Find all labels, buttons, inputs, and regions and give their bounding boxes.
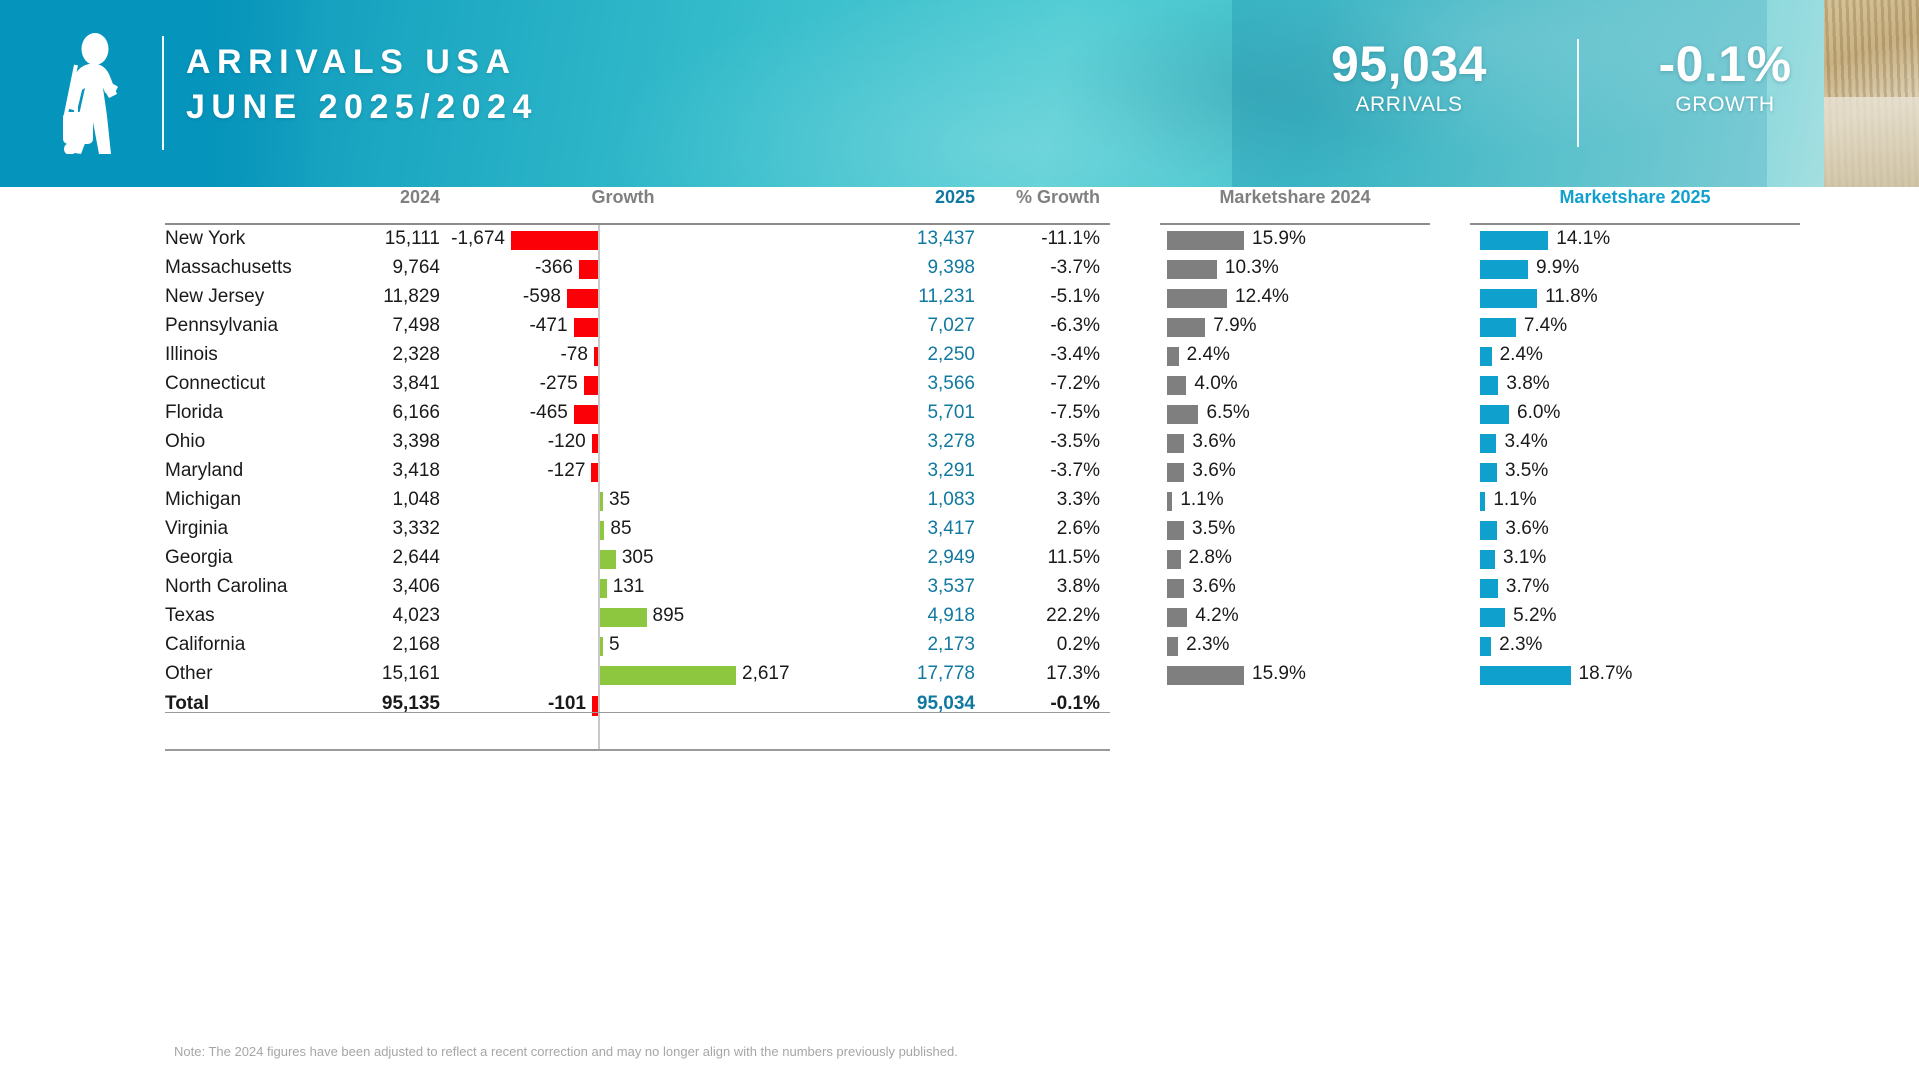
cell-marketshare-2025: 14.1% [1556, 228, 1610, 250]
marketshare-2025-bar [1480, 405, 1509, 424]
kpi-growth-value: -0.1% [1595, 36, 1855, 92]
column-header-2024: 2024 [305, 187, 440, 208]
cell-marketshare-2024: 12.4% [1235, 286, 1289, 308]
cell-state: Illinois [165, 344, 218, 366]
table-row: Michigan1,048351,0833.3%1.1%1.1% [0, 486, 1919, 515]
cell-2024: 4,023 [305, 605, 440, 627]
cell-pct-growth: -3.5% [985, 431, 1100, 453]
growth-bar [591, 463, 598, 482]
marketshare-2025-bar [1480, 637, 1491, 656]
marketshare-2024-bar [1167, 521, 1184, 540]
cell-state: Pennsylvania [165, 315, 278, 337]
cell-growth-label: 35 [609, 489, 699, 511]
marketshare-2024-bar [1167, 231, 1244, 250]
cell-pct-growth: 22.2% [985, 605, 1100, 627]
table-row: Illinois2,328-782,250-3.4%2.4%2.4% [0, 341, 1919, 370]
cell-2024: 6,166 [305, 402, 440, 424]
cell-marketshare-2024: 15.9% [1252, 228, 1306, 250]
cell-2024: 9,764 [305, 257, 440, 279]
column-header-marketshare-2024: Marketshare 2024 [1160, 187, 1430, 208]
cell-pct-growth: -7.2% [985, 373, 1100, 395]
growth-bar [567, 289, 598, 308]
cell-2024: 2,168 [305, 634, 440, 656]
cell-2024: 3,398 [305, 431, 440, 453]
cell-2025: 4,918 [865, 605, 975, 627]
cell-marketshare-2024: 3.6% [1192, 431, 1235, 453]
cell-state: Connecticut [165, 373, 265, 395]
table-row: California2,16852,1730.2%2.3%2.3% [0, 631, 1919, 660]
total-rule-top [165, 712, 1110, 713]
cell-growth-label: -120 [496, 431, 586, 453]
page-title: ARRIVALS USA JUNE 2025/2024 [186, 40, 538, 130]
cell-marketshare-2024: 3.5% [1192, 518, 1235, 540]
marketshare-2025-bar [1480, 434, 1496, 453]
cell-growth-label: 5 [609, 634, 699, 656]
cell-marketshare-2024: 1.1% [1180, 489, 1223, 511]
cell-2025: 17,778 [865, 663, 975, 685]
kpi-arrivals: 95,034 ARRIVALS [1259, 36, 1559, 117]
cell-pct-growth: 11.5% [985, 547, 1100, 569]
cell-pct-growth: -11.1% [985, 228, 1100, 250]
footnote: Note: The 2024 figures have been adjuste… [174, 1044, 958, 1059]
cell-pct-growth: -3.7% [985, 460, 1100, 482]
growth-bar [579, 260, 598, 279]
title-line-1: ARRIVALS USA [186, 40, 538, 85]
cell-2025: 3,566 [865, 373, 975, 395]
marketshare-2025-bar [1480, 492, 1485, 511]
cell-2024: 7,498 [305, 315, 440, 337]
cell-state: Michigan [165, 489, 241, 511]
growth-bar [584, 376, 598, 395]
table-row: Maryland3,418-1273,291-3.7%3.6%3.5% [0, 457, 1919, 486]
table-row: Massachusetts9,764-3669,398-3.7%10.3%9.9… [0, 254, 1919, 283]
cell-growth-label: -275 [488, 373, 578, 395]
kpi-arrivals-label: ARRIVALS [1259, 93, 1559, 117]
cell-2024: 1,048 [305, 489, 440, 511]
marketshare-2024-bar [1167, 434, 1184, 453]
cell-pct-growth: -3.7% [985, 257, 1100, 279]
cell-marketshare-2025: 6.0% [1517, 402, 1560, 424]
cell-marketshare-2025: 3.7% [1506, 576, 1549, 598]
cell-pct-growth: 3.8% [985, 576, 1100, 598]
cell-2024: 3,841 [305, 373, 440, 395]
marketshare-2024-bar [1167, 579, 1184, 598]
marketshare-2024-bar [1167, 666, 1244, 685]
marketshare-2025-bar [1480, 347, 1492, 366]
cell-marketshare-2024: 2.3% [1186, 634, 1229, 656]
cell-2024: 3,406 [305, 576, 440, 598]
growth-bar [600, 637, 603, 656]
cell-state: New Jersey [165, 286, 264, 308]
cell-marketshare-2025: 5.2% [1513, 605, 1556, 627]
cell-marketshare-2025: 18.7% [1579, 663, 1633, 685]
cell-2025: 9,398 [865, 257, 975, 279]
column-header-2025: 2025 [865, 187, 975, 208]
cell-marketshare-2024: 6.5% [1206, 402, 1249, 424]
marketshare-2025-bar [1480, 289, 1537, 308]
cell-state: Florida [165, 402, 223, 424]
cell-marketshare-2025: 3.4% [1504, 431, 1547, 453]
cell-2024: 3,332 [305, 518, 440, 540]
table-row: Georgia2,6443052,94911.5%2.8%3.1% [0, 544, 1919, 573]
growth-bar [574, 318, 598, 337]
marketshare-2025-bar [1480, 318, 1516, 337]
cell-marketshare-2025: 7.4% [1524, 315, 1567, 337]
cell-2025: 5,701 [865, 402, 975, 424]
growth-bar [600, 521, 604, 540]
marketshare-2024-bar [1167, 289, 1227, 308]
table-row: Pennsylvania7,498-4717,027-6.3%7.9%7.4% [0, 312, 1919, 341]
cell-pct-growth: 3.3% [985, 489, 1100, 511]
cell-growth-label: 305 [622, 547, 712, 569]
cell-2025: 2,949 [865, 547, 975, 569]
cell-state: Maryland [165, 460, 243, 482]
cell-marketshare-2025: 11.8% [1545, 286, 1597, 308]
arrivals-table: 2024 Growth 2025 % Growth Marketshare 20… [0, 187, 1919, 1080]
title-line-2: JUNE 2025/2024 [186, 85, 538, 130]
cell-pct-growth: 0.2% [985, 634, 1100, 656]
cell-growth-label: -127 [495, 460, 585, 482]
cell-marketshare-2025: 3.6% [1505, 518, 1548, 540]
table-row: Virginia3,332853,4172.6%3.5%3.6% [0, 515, 1919, 544]
marketshare-2025-bar [1480, 608, 1505, 627]
cell-marketshare-2024: 2.4% [1187, 344, 1230, 366]
table-row: Ohio3,398-1203,278-3.5%3.6%3.4% [0, 428, 1919, 457]
table-row: Florida6,166-4655,701-7.5%6.5%6.0% [0, 399, 1919, 428]
cell-marketshare-2025: 3.1% [1503, 547, 1546, 569]
growth-bar [574, 405, 598, 424]
growth-bar [594, 347, 598, 366]
cell-marketshare-2025: 3.8% [1506, 373, 1549, 395]
marketshare-2025-bar [1480, 579, 1498, 598]
traveler-with-suitcase-icon [33, 32, 141, 154]
growth-bar [600, 579, 607, 598]
marketshare-2025-bar [1480, 521, 1497, 540]
column-header-growth: Growth [548, 187, 698, 208]
title-divider [162, 36, 164, 150]
growth-bar [600, 608, 647, 627]
cell-2024: 15,161 [305, 663, 440, 685]
table-body: New York15,111-1,67413,437-11.1%15.9%14.… [0, 225, 1919, 721]
cell-2025: 13,437 [865, 228, 975, 250]
cell-marketshare-2024: 15.9% [1252, 663, 1306, 685]
cell-marketshare-2024: 4.0% [1194, 373, 1237, 395]
cell-marketshare-2024: 7.9% [1213, 315, 1256, 337]
marketshare-2025-bar [1480, 260, 1528, 279]
kpi-arrivals-value: 95,034 [1259, 36, 1559, 92]
cell-2025: 3,291 [865, 460, 975, 482]
cell-pct-growth: -3.4% [985, 344, 1100, 366]
cell-pct-growth: 17.3% [985, 663, 1100, 685]
cell-2025: 7,027 [865, 315, 975, 337]
marketshare-2025-bar [1480, 463, 1497, 482]
kpi-growth-label: GROWTH [1595, 93, 1855, 117]
growth-bar [600, 666, 736, 685]
cell-2024: 3,418 [305, 460, 440, 482]
marketshare-2025-bar [1480, 666, 1571, 685]
cell-growth-label: 131 [613, 576, 703, 598]
cell-marketshare-2025: 9.9% [1536, 257, 1579, 279]
cell-2024: 11,829 [305, 286, 440, 308]
cell-growth-label: -598 [471, 286, 561, 308]
cell-marketshare-2024: 4.2% [1195, 605, 1238, 627]
cell-state: Virginia [165, 518, 228, 540]
cell-marketshare-2025: 3.5% [1505, 460, 1548, 482]
kpi-divider [1577, 39, 1579, 147]
cell-2025: 2,250 [865, 344, 975, 366]
cell-state: Other [165, 663, 213, 685]
cell-2025: 3,537 [865, 576, 975, 598]
cell-2024: 2,644 [305, 547, 440, 569]
cell-state: Ohio [165, 431, 205, 453]
table-row: Texas4,0238954,91822.2%4.2%5.2% [0, 602, 1919, 631]
cell-marketshare-2024: 2.8% [1189, 547, 1232, 569]
cell-pct-growth: -5.1% [985, 286, 1100, 308]
table-header-row: 2024 Growth 2025 % Growth Marketshare 20… [0, 187, 1919, 223]
marketshare-2025-bar [1480, 376, 1498, 395]
cell-state: North Carolina [165, 576, 288, 598]
cell-state: Georgia [165, 547, 233, 569]
header-banner: ARRIVALS USA JUNE 2025/2024 95,034 ARRIV… [0, 0, 1919, 187]
cell-marketshare-2024: 3.6% [1192, 576, 1235, 598]
cell-marketshare-2024: 3.6% [1192, 460, 1235, 482]
cell-marketshare-2025: 2.3% [1499, 634, 1542, 656]
marketshare-2025-bar [1480, 231, 1548, 250]
cell-state: Massachusetts [165, 257, 292, 279]
marketshare-2024-bar [1167, 608, 1187, 627]
column-header-pct-growth: % Growth [985, 187, 1100, 208]
marketshare-2024-bar [1167, 550, 1181, 569]
cell-growth-label: 895 [653, 605, 743, 627]
cell-growth-label: -471 [478, 315, 568, 337]
cell-pct-growth: -7.5% [985, 402, 1100, 424]
cell-state: California [165, 634, 245, 656]
marketshare-2024-bar [1167, 405, 1198, 424]
cell-marketshare-2025: 1.1% [1493, 489, 1536, 511]
table-total-row: Total95,135-10195,034-0.1% [0, 689, 1919, 721]
table-row: Other15,1612,61717,77817.3%15.9%18.7% [0, 660, 1919, 689]
cell-2025: 3,278 [865, 431, 975, 453]
growth-bar [600, 550, 616, 569]
marketshare-2024-bar [1167, 260, 1217, 279]
marketshare-2025-bar [1480, 550, 1495, 569]
marketshare-2024-bar [1167, 376, 1186, 395]
marketshare-2024-bar [1167, 492, 1172, 511]
total-growth-bar [592, 696, 598, 716]
marketshare-2024-bar [1167, 318, 1205, 337]
marketshare-2024-bar [1167, 637, 1178, 656]
cell-pct-growth: 2.6% [985, 518, 1100, 540]
growth-bar [592, 434, 598, 453]
cell-2025: 2,173 [865, 634, 975, 656]
growth-bar [511, 231, 598, 250]
cell-marketshare-2024: 10.3% [1225, 257, 1279, 279]
cell-state: Texas [165, 605, 215, 627]
cell-growth-label: -78 [498, 344, 588, 366]
cell-2025: 11,231 [865, 286, 975, 308]
table-row: New Jersey11,829-59811,231-5.1%12.4%11.8… [0, 283, 1919, 312]
cell-pct-growth: -6.3% [985, 315, 1100, 337]
column-header-marketshare-2025: Marketshare 2025 [1470, 187, 1800, 208]
cell-growth-label: -366 [483, 257, 573, 279]
growth-bar [600, 492, 603, 511]
kpi-growth: -0.1% GROWTH [1595, 36, 1855, 117]
cell-growth-label: 2,617 [742, 663, 832, 685]
table-row: New York15,111-1,67413,437-11.1%15.9%14.… [0, 225, 1919, 254]
cell-2024: 2,328 [305, 344, 440, 366]
total-rule-bottom [165, 749, 1110, 751]
table-row: Connecticut3,841-2753,566-7.2%4.0%3.8% [0, 370, 1919, 399]
cell-state: New York [165, 228, 245, 250]
cell-2025: 3,417 [865, 518, 975, 540]
cell-growth-label: -1,674 [415, 228, 505, 250]
cell-growth-label: -465 [478, 402, 568, 424]
cell-marketshare-2025: 2.4% [1500, 344, 1543, 366]
cell-growth-label: 85 [610, 518, 700, 540]
cell-2025: 1,083 [865, 489, 975, 511]
marketshare-2024-bar [1167, 347, 1179, 366]
table-row: North Carolina3,4061313,5373.8%3.6%3.7% [0, 573, 1919, 602]
marketshare-2024-bar [1167, 463, 1184, 482]
